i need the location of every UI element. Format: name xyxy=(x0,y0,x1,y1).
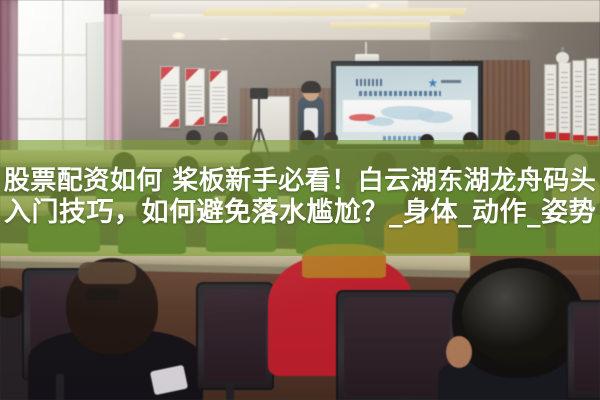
curtain-sheer xyxy=(104,14,122,152)
hair-highlight xyxy=(462,268,574,364)
chair-mesh xyxy=(574,307,600,392)
slide-map-graphic xyxy=(343,100,471,131)
poster-text-lines xyxy=(188,86,202,114)
poster-text-lines xyxy=(212,87,225,113)
wall-poster-right xyxy=(572,60,585,144)
downlight xyxy=(172,32,185,39)
article-thumbnail-image: 股票配资如何 桨板新手必看！白云湖东湖龙舟码头 入门技巧，如何避免落水尴尬？_身… xyxy=(0,0,600,400)
chair-leg xyxy=(56,374,64,400)
ceiling-cove-light xyxy=(203,8,467,16)
slide-logo-right xyxy=(428,78,459,87)
wall-poster-right xyxy=(586,58,599,146)
wall-poster-right xyxy=(544,64,557,140)
chair-leg xyxy=(226,384,234,400)
hair-clip xyxy=(78,262,136,284)
title-line-2: 入门技巧，如何避免落水尴尬？_身体_动作_姿势 xyxy=(4,199,596,228)
poster-text-lines xyxy=(547,74,555,127)
slide-logo-left xyxy=(356,79,384,86)
chair-back xyxy=(566,300,600,400)
chair-back xyxy=(196,282,274,390)
title-line-1: 股票配资如何 桨板新手必看！白云湖东湖龙舟码头 xyxy=(4,168,597,196)
chair-mesh xyxy=(204,289,266,382)
downlight xyxy=(367,2,380,9)
wall-poster xyxy=(185,68,205,126)
poster-accent xyxy=(545,132,556,139)
slide-title-text xyxy=(359,91,441,96)
security-camera-icon xyxy=(556,52,569,63)
poster-text-lines xyxy=(163,85,177,115)
wall-poster xyxy=(160,66,180,128)
poster-text-lines xyxy=(589,69,597,131)
poster-text-lines xyxy=(561,72,569,128)
tripod-column xyxy=(258,96,260,142)
chair-leg xyxy=(400,396,410,400)
wall-poster-right xyxy=(558,62,571,142)
presenter-hair xyxy=(301,81,321,93)
hair-clip-small xyxy=(86,288,120,300)
title-overlay-band: 股票配资如何 桨板新手必看！白云湖东湖龙舟码头 入门技巧，如何避免落水尴尬？_身… xyxy=(0,140,600,256)
projection-screen xyxy=(331,61,483,149)
ear xyxy=(446,336,472,368)
wall-poster xyxy=(209,70,228,124)
projection-screen-surface xyxy=(336,66,478,144)
chair-mesh xyxy=(344,297,450,396)
poster-text-lines xyxy=(575,71,583,130)
window-mullion xyxy=(62,0,64,152)
